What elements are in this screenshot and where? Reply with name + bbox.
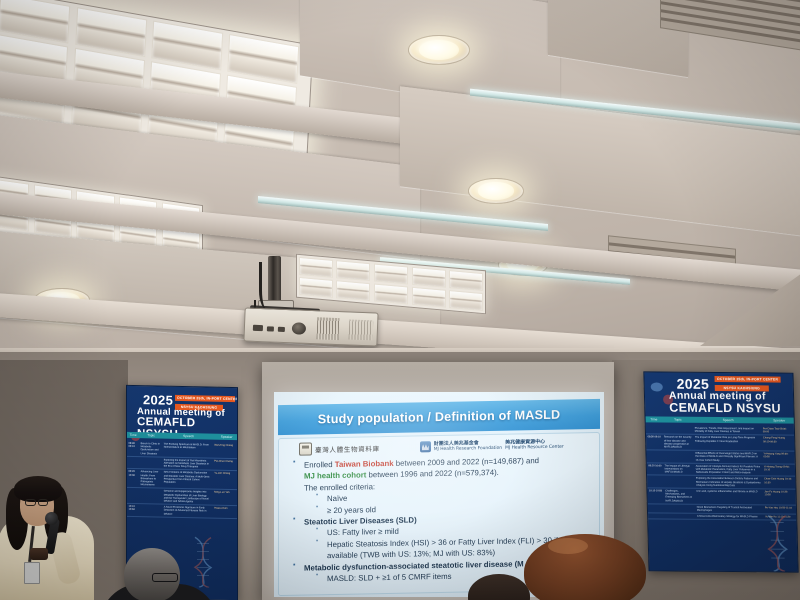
audience-member-left [108, 548, 218, 600]
conference-room-photo: Study population / Definition of MASLD 臺… [0, 0, 800, 600]
poster-table-cell [664, 504, 695, 513]
poster-table-cell: Prevalence, Trends, Risk Assessment, and… [693, 426, 761, 435]
slide-text-segment: Naïve [327, 494, 347, 503]
poster-table-cell [127, 457, 139, 469]
slide-text-segment: between 1996 and 2022 (n=579,374). [366, 468, 498, 480]
poster-table-cell: 09:20 10:00 [647, 463, 664, 475]
poster-table-cell: Wan-Ting Chang [213, 443, 237, 458]
poster-table-cell: Exploring the Association Between Dietar… [694, 476, 762, 488]
poster-right-th-time: Time [646, 416, 663, 422]
poster-table-cell [648, 514, 664, 519]
speaker-glasses-right-lens [38, 499, 48, 506]
poster-table-row: 10:10 10:50Challenges, Mechanisms, and E… [647, 488, 795, 505]
poster-left-table-body: 08:30 09:10Bench to Clinic in Metabolic … [127, 441, 237, 519]
poster-left-badge-line1: OCTOBER 25th, IN-PORT CENTER [175, 395, 235, 402]
poster-table-cell: Jee-Fu Huang 10:30-10:50 [763, 489, 796, 504]
projector-lens [292, 322, 306, 335]
poster-table-cell: Research on the severity of liver diseas… [662, 435, 693, 450]
poster-table-cell: A Novel Anti-inflammatory Strategy for M… [695, 514, 763, 520]
poster-table-cell [662, 426, 693, 435]
slide-text-segment: US: Fatty liver ≥ mild [327, 527, 399, 537]
projector-port-c [278, 327, 285, 332]
poster-table-cell: Chung-Feng Huang 09:10-09:30 [761, 436, 794, 451]
projector-port-b [267, 326, 274, 331]
ceiling [0, 0, 800, 400]
poster-table-cell: New Frontiers of Metabolic Dysfunction a… [162, 470, 213, 489]
poster-table-cell: The Impact of Metabolic Risk on Long-Ter… [693, 435, 762, 450]
speaker-glasses-left-lens [25, 499, 36, 506]
slide-text-segment: Steatotic Liver Diseases (SLD) [304, 516, 417, 527]
mj-center-en: MJ Health Resource Center [505, 445, 564, 451]
poster-right-badge-line1: OCTOBER 25th, IN-PORT CENTER [714, 376, 780, 383]
projector-port-a [253, 325, 263, 331]
dna-helix-graphic-right [760, 513, 799, 571]
poster-right-table-header: Time Topic Speech Speaker [646, 416, 796, 423]
poster-table-cell [139, 504, 162, 516]
poster-table-cell: A Novel Proteomic Signature in Early Det… [162, 505, 213, 518]
poster-table-cell [139, 489, 162, 504]
poster-table-cell: Challenges, Mechanisms, and Emerging Bio… [664, 489, 695, 504]
poster-table-cell: The Impact of Lifestyle Interventions on… [663, 463, 694, 475]
poster-table-cell: Pei-Chien Tsai 08:30-09:00 [761, 426, 794, 435]
poster-table-row: 10:10 10:50A Novel Proteomic Signature i… [127, 504, 237, 519]
taiwan-biobank-logo: 臺灣人體生物資料庫 [299, 441, 380, 456]
mj-foundation-label: 財團法人美兆基金會 MJ Health Research Foundation [434, 439, 502, 452]
poster-table-cell [664, 514, 695, 519]
poster-table-cell: Exploring the Impact of Gut Microbiota A… [162, 457, 213, 470]
poster-table-cell: Association of Lifestyle-Derived Indices… [694, 464, 762, 476]
poster-right-th-speaker: Speaker [763, 417, 796, 423]
poster-left-th-time: Time [127, 432, 139, 438]
poster-table-cell [647, 476, 664, 488]
poster-table-cell: Yu-Jen Cheng [213, 471, 237, 490]
poster-table-cell [646, 425, 662, 434]
poster-table-cell: Pei-Chun Cheng [213, 458, 237, 470]
slide-text-segment: The enrolled criteria: [304, 482, 375, 492]
mj-health-logo: 財團法人美兆基金會 MJ Health Research Foundation … [420, 438, 564, 453]
mj-center-label: 美兆健康資源中心 MJ Health Resource Center [505, 438, 564, 451]
poster-right-table-body: Prevalence, Trends, Risk Assessment, and… [646, 425, 797, 521]
poster-table-row: 08:30 09:10Research on the severity of l… [646, 435, 794, 452]
poster-right-th-topic: Topic [662, 417, 694, 423]
poster-table-cell: Hsiao-Chen [213, 506, 237, 518]
poster-right-th-speech: Speech [694, 417, 763, 424]
poster-left-th-speaker: Speaker [214, 434, 238, 441]
poster-table-cell: 10:10 10:50 [647, 488, 664, 503]
poster-table-cell [663, 451, 694, 463]
speaker-held-object [30, 548, 48, 560]
poster-right-line2: CEMAFLD NSYSU [669, 401, 781, 416]
poster-table-cell: Chao-Chih Huang 10:10-10:30 [763, 477, 796, 489]
poster-table-cell: Yi-Hsiang Tseng 09:50-10:10 [762, 464, 795, 476]
poster-table-cell [663, 476, 694, 488]
poster-table-cell: Bench to Clinic in Metabolic Dysfunction… [139, 441, 162, 456]
poster-table-cell: 08:30 09:10 [127, 441, 139, 456]
slide-title-bar: Study population / Definition of MASLD [278, 399, 600, 435]
speaker-hair-top [14, 476, 62, 502]
audience-member-right [524, 534, 674, 600]
poster-left-th-speech: Speech [163, 433, 215, 440]
projector-body [243, 307, 378, 346]
projector-vent-right [349, 319, 374, 340]
slide-text-segment: MASLD: SLD + ≥1 of 5 CMRF items [327, 572, 452, 583]
slide-text-segment: between 2009 and 2022 (n=149,687) and [394, 456, 539, 468]
poster-table-cell: Genomic and Epigenomic Insights into Met… [162, 489, 213, 505]
poster-table-cell: Advancing Liver Health: From Biomarkers … [139, 470, 162, 488]
slide-bullet-item: Enrolled Taiwan Biobank between 2009 and… [293, 454, 593, 517]
audience-center-head [468, 574, 530, 600]
taiwan-biobank-logo-text: 臺灣人體生物資料庫 [315, 443, 380, 454]
speaker-name-badge [24, 562, 40, 584]
poster-table-cell [139, 457, 162, 469]
slide-text-segment: Enrolled [304, 460, 335, 470]
slide-text-segment: Taiwan Biobank [335, 459, 394, 469]
audience-left-glasses [152, 573, 178, 582]
audience-right-hair-highlight [548, 538, 588, 554]
recessed-downlight-top [408, 35, 470, 65]
poster-table-cell: The Evolving Spectrum of MASLD: From Nom… [162, 442, 213, 458]
poster-table-row: 09:20 10:00Advancing Liver Health: From … [127, 469, 237, 490]
recessed-downlight-middle [468, 178, 524, 204]
mj-foundation-en: MJ Health Research Foundation [434, 446, 502, 452]
poster-table-cell: 08:30 09:10 [646, 435, 663, 450]
poster-left-th-topic: Topic [139, 432, 163, 438]
poster-table-cell [648, 504, 664, 513]
slide-text-segment: MJ health cohort [304, 471, 366, 481]
poster-table-cell: Differential Effects of Overweight Statu… [694, 451, 762, 463]
slide-text-segment: ≥ 20 years old [327, 505, 376, 515]
microphone-head [45, 512, 58, 525]
mj-health-logo-icon [420, 441, 431, 452]
poster-table-cell: Uric acid, systemic inflammation and fib… [695, 489, 764, 504]
poster-table-cell: Yi-Hsiang Yang 09:30-09:50 [762, 452, 795, 464]
poster-table-cell: Novel Biomarkers Targeting of Trusted As… [695, 505, 763, 514]
slide-title-text: Study population / Definition of MASLD [318, 408, 561, 427]
poster-table-cell [646, 451, 663, 463]
poster-table-cell: Ming-Lun Yeh [213, 490, 237, 505]
taiwan-biobank-logo-icon [299, 442, 312, 455]
poster-right-deco-dot [651, 382, 663, 391]
projector-vent [317, 317, 340, 340]
